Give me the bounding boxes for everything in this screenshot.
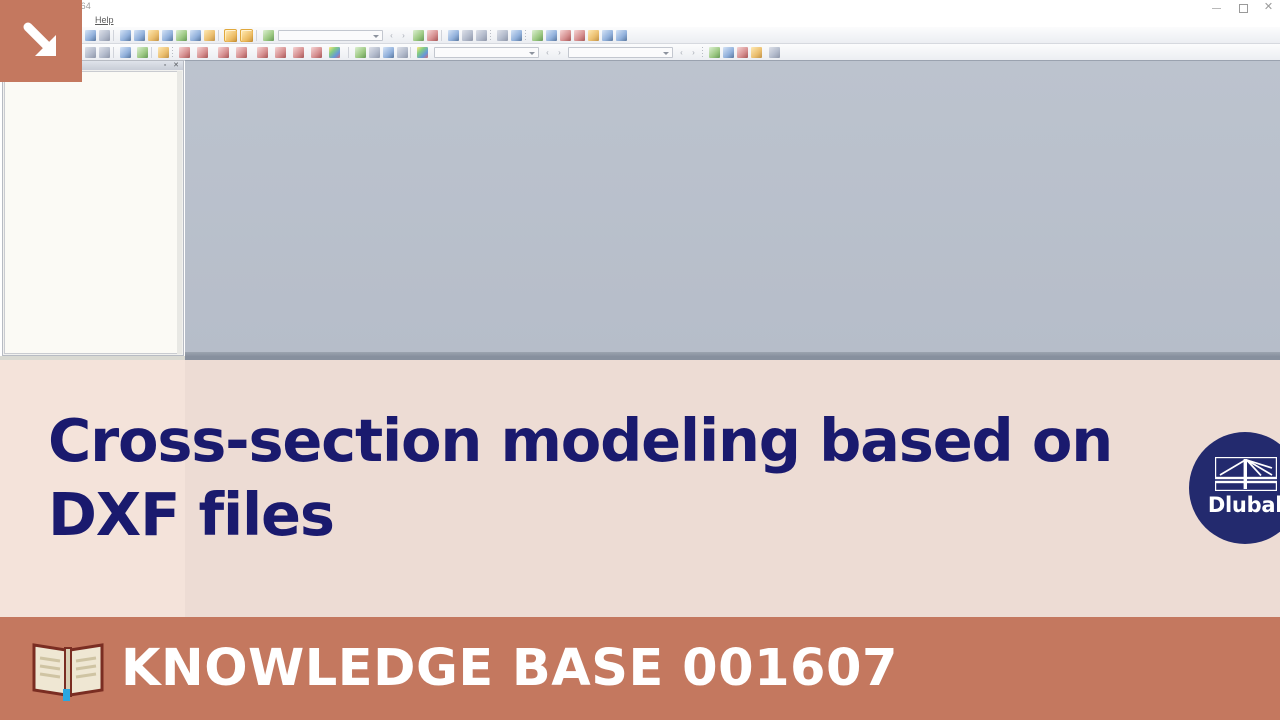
toolbar-button-4[interactable]: [119, 46, 132, 59]
minimize-icon[interactable]: [1211, 2, 1222, 13]
toolbar-button-15[interactable]: [292, 46, 305, 59]
toolbar-button-5[interactable]: [133, 29, 146, 42]
toolbar-button-9[interactable]: [189, 29, 202, 42]
toolbar-button-14[interactable]: [274, 46, 287, 59]
menu-item-help[interactable]: Help: [95, 15, 114, 25]
toolbar-button-13[interactable]: [256, 46, 269, 59]
toolbar-button-23[interactable]: [461, 29, 474, 42]
toolbar-button-16[interactable]: [310, 46, 323, 59]
toolbar-button-35[interactable]: [615, 29, 628, 42]
toolbar-separator: [151, 47, 152, 58]
toolbar-button-icon: [511, 30, 522, 41]
toolbar-button-icon: [369, 47, 380, 58]
toolbar-button-icon: [329, 47, 340, 58]
toolbar-combo-box[interactable]: [278, 30, 383, 41]
toolbar-button-2[interactable]: [98, 29, 111, 42]
toolbar-button-12[interactable]: [235, 46, 248, 59]
toolbar-step-button[interactable]: ‹: [543, 47, 552, 58]
toolbar-button-21[interactable]: [382, 46, 395, 59]
toolbar-button-icon: [99, 30, 110, 41]
toolbar-button-icon: [546, 30, 557, 41]
toolbar-button-10[interactable]: [196, 46, 209, 59]
navigator-panel: a ▫ ✕ ■: [2, 60, 184, 356]
arrow-badge: [0, 0, 82, 82]
toolbar-button-20[interactable]: [368, 46, 381, 59]
toolbar-button-icon: [85, 30, 96, 41]
toolbar-button-icon: [723, 47, 734, 58]
toolbar-button-17[interactable]: [328, 46, 341, 59]
toolbar-button-icon: [257, 47, 268, 58]
toolbar-button-icon: [242, 31, 253, 42]
toolbar-separator: [702, 47, 703, 58]
knowledge-base-banner: KNOWLEDGE BASE 001607: [0, 617, 1280, 720]
toolbar-button-icon: [709, 47, 720, 58]
toolbar-button-36[interactable]: [768, 46, 781, 59]
arrow-down-right-icon: [15, 15, 67, 67]
toolbar-button-icon: [148, 30, 159, 41]
toolbar-step-button[interactable]: ›: [689, 47, 698, 58]
page-title: Cross-section modeling based on DXF file…: [48, 404, 1138, 552]
toolbar-button-icon: [162, 30, 173, 41]
toolbar-button-icon: [137, 47, 148, 58]
toolbar-button-icon: [532, 30, 543, 41]
toolbar-secondary: ‹›‹›: [0, 44, 1280, 61]
toolbar-button-icon: [560, 30, 571, 41]
toolbar-button-icon: [158, 47, 169, 58]
toolbar-button-35[interactable]: [750, 46, 763, 59]
window-title-bar: 2 x64 ✕: [0, 0, 1280, 14]
toolbar-button-icon: [134, 30, 145, 41]
toolbar-button-icon: [602, 30, 613, 41]
toolbar-button-icon: [751, 47, 762, 58]
toolbar-button-30[interactable]: [545, 29, 558, 42]
pin-icon[interactable]: ▫: [161, 61, 169, 70]
toolbar-button-icon: [263, 30, 274, 41]
toolbar-button-icon: [355, 47, 366, 58]
toolbar-button-32[interactable]: [573, 29, 586, 42]
toolbar-separator: [172, 47, 173, 58]
toolbar-combo-box[interactable]: [568, 47, 673, 58]
toolbar-button-icon: [204, 30, 215, 41]
toolbar-button-9[interactable]: [178, 46, 191, 59]
toolbar-button-2[interactable]: [98, 46, 111, 59]
navigator-scrollbar[interactable]: [177, 71, 182, 354]
toolbar-button-33[interactable]: [722, 46, 735, 59]
toolbar-button-icon: [176, 30, 187, 41]
toolbar-button-6[interactable]: [147, 29, 160, 42]
toolbar-button-icon: [616, 30, 627, 41]
model-viewport[interactable]: [185, 60, 1280, 356]
toolbar-separator: [218, 30, 219, 41]
frame-truss-icon: [1215, 457, 1277, 491]
toolbar-button-icon: [497, 30, 508, 41]
toolbar-button-icon: [218, 47, 229, 58]
maximize-icon[interactable]: [1237, 2, 1248, 13]
toolbar-button-7[interactable]: [161, 29, 174, 42]
toolbar-button-icon: [99, 47, 110, 58]
toolbar-button-7[interactable]: [157, 46, 170, 59]
toolbar-button-icon: [427, 30, 438, 41]
toolbar-button-26[interactable]: [496, 29, 509, 42]
toolbar-button-33[interactable]: [587, 29, 600, 42]
toolbar-separator: [490, 30, 491, 41]
toolbar-button-icon: [397, 47, 408, 58]
toolbar-combo-box[interactable]: [434, 47, 539, 58]
open-book-icon: [30, 637, 106, 701]
toolbar-button-5[interactable]: [136, 46, 149, 59]
toolbar-button-icon: [737, 47, 748, 58]
toolbar-button-24[interactable]: [475, 29, 488, 42]
toolbar-button-12[interactable]: [224, 29, 237, 42]
toolbar-button-icon: [476, 30, 487, 41]
toolbar-button-10[interactable]: [203, 29, 216, 42]
toolbar-button-icon: [417, 47, 428, 58]
toolbar-button-34[interactable]: [601, 29, 614, 42]
toolbar-separator: [348, 47, 349, 58]
toolbar-button-32[interactable]: [708, 46, 721, 59]
toolbar-separator: [441, 30, 442, 41]
toolbar-button-icon: [383, 47, 394, 58]
toolbar-button-icon: [190, 30, 201, 41]
toolbar-button-icon: [120, 30, 131, 41]
toolbar-button-20[interactable]: [426, 29, 439, 42]
toolbar-button-icon: [120, 47, 131, 58]
toolbar-button-icon: [236, 47, 247, 58]
toolbar-button-icon: [293, 47, 304, 58]
application-screenshot: 2 x64 ✕ ns Help ‹› ‹›‹› a ▫ ✕ ■: [0, 0, 1280, 361]
toolbar-button-icon: [574, 30, 585, 41]
toolbar-step-button[interactable]: ‹: [677, 47, 686, 58]
toolbar-separator: [113, 47, 114, 58]
toolbar-button-19[interactable]: [354, 46, 367, 59]
toolbar-button-22[interactable]: [396, 46, 409, 59]
toolbar-button-34[interactable]: [736, 46, 749, 59]
page-root: 2 x64 ✕ ns Help ‹› ‹›‹› a ▫ ✕ ■: [0, 0, 1280, 720]
toolbar-button-4[interactable]: [119, 29, 132, 42]
toolbar-button-1[interactable]: [84, 46, 97, 59]
toolbar-step-button[interactable]: ›: [399, 30, 408, 41]
toolbar-button-icon: [226, 31, 237, 42]
toolbar-step-button[interactable]: ›: [555, 47, 564, 58]
toolbar-separator: [410, 47, 411, 58]
toolbar-button-13[interactable]: [240, 29, 253, 42]
dlubal-logo-text: Dlubal: [1189, 493, 1280, 517]
banner-label: KNOWLEDGE BASE 001607: [121, 639, 898, 698]
toolbar-separator: [113, 30, 114, 41]
toolbar-separator: [256, 30, 257, 41]
toolbar-button-19[interactable]: [412, 29, 425, 42]
toolbar-button-icon: [179, 47, 190, 58]
toolbar-button-icon: [462, 30, 473, 41]
close-icon[interactable]: ✕: [1263, 2, 1274, 13]
toolbar-button-22[interactable]: [447, 29, 460, 42]
window-controls: ✕: [1211, 0, 1274, 14]
toolbar-button-icon: [197, 47, 208, 58]
toolbar-button-icon: [769, 47, 780, 58]
toolbar-primary: ‹›: [0, 27, 1280, 44]
toolbar-button-icon: [275, 47, 286, 58]
toolbar-button-1[interactable]: [84, 29, 97, 42]
toolbar-button-29[interactable]: [531, 29, 544, 42]
toolbar-button-icon: [448, 30, 459, 41]
panel-close-icon[interactable]: ✕: [172, 61, 180, 70]
toolbar-button-icon: [588, 30, 599, 41]
toolbar-button-icon: [413, 30, 424, 41]
toolbar-button-27[interactable]: [510, 29, 523, 42]
toolbar-button-31[interactable]: [559, 29, 572, 42]
toolbar-separator: [525, 30, 526, 41]
menu-bar: ns Help: [0, 14, 1280, 27]
toolbar-button-8[interactable]: [175, 29, 188, 42]
navigator-tree[interactable]: ■: [4, 71, 182, 354]
toolbar-button-15[interactable]: [262, 29, 275, 42]
toolbar-step-button[interactable]: ‹: [387, 30, 396, 41]
toolbar-button-icon: [85, 47, 96, 58]
toolbar-button-icon: [311, 47, 322, 58]
toolbar-button-24[interactable]: [416, 46, 429, 59]
toolbar-button-11[interactable]: [217, 46, 230, 59]
